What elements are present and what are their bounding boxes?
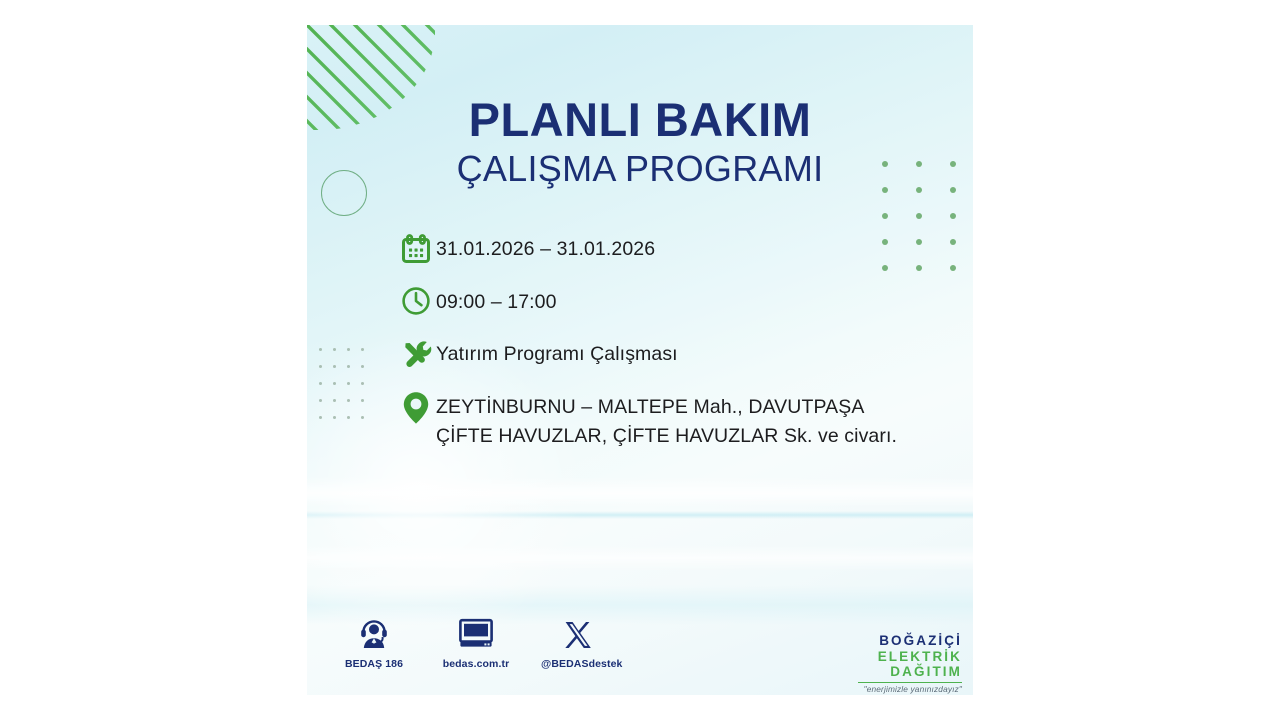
brand-line-3: DAĞITIM [852, 664, 962, 680]
support-headset-icon [337, 610, 411, 650]
brand-line-1: BOĞAZİÇİ [852, 633, 962, 649]
brand-tagline: "enerjimizle yanınızdayız" [852, 684, 962, 694]
monitor-icon [439, 610, 513, 650]
footer-contacts: BEDAŞ 186 bedas.com.tr [329, 610, 629, 670]
tools-icon [396, 337, 436, 373]
contact-call-center[interactable]: BEDAŞ 186 [337, 610, 411, 670]
detail-row-date: 31.01.2026 – 31.01.2026 [396, 232, 916, 268]
work-type-text: Yatırım Programı Çalışması [436, 337, 678, 368]
planned-maintenance-poster: PLANLI BAKIM ÇALIŞMA PROGRAMI [307, 25, 973, 695]
maintenance-details: 31.01.2026 – 31.01.2026 09:00 – 17:00 [396, 232, 916, 450]
clock-icon [396, 285, 436, 321]
x-twitter-icon [541, 610, 615, 650]
contact-label: BEDAŞ 186 [337, 658, 411, 670]
detail-row-time: 09:00 – 17:00 [396, 285, 916, 321]
brand-divider [858, 682, 962, 683]
location-pin-icon [396, 390, 436, 426]
bedas-logo: BOĞAZİÇİ ELEKTRİK DAĞITIM "enerjimizle y… [852, 633, 962, 694]
time-range-text: 09:00 – 17:00 [436, 285, 557, 316]
dot-grid-left-decoration [319, 348, 375, 433]
contact-website[interactable]: bedas.com.tr [439, 610, 513, 670]
page-title: PLANLI BAKIM [307, 95, 973, 144]
contact-label: bedas.com.tr [439, 658, 513, 670]
contact-x-account[interactable]: @BEDASdestek [541, 610, 615, 670]
title-block: PLANLI BAKIM ÇALIŞMA PROGRAMI [307, 95, 973, 189]
contact-label: @BEDASdestek [541, 658, 615, 670]
date-range-text: 31.01.2026 – 31.01.2026 [436, 232, 655, 263]
page-subtitle: ÇALIŞMA PROGRAMI [307, 149, 973, 189]
brand-line-2: ELEKTRİK [852, 649, 962, 665]
detail-row-work-type: Yatırım Programı Çalışması [396, 337, 916, 373]
calendar-icon [396, 232, 436, 268]
detail-row-location: ZEYTİNBURNU – MALTEPE Mah., DAVUTPAŞA Çİ… [396, 390, 916, 450]
location-text: ZEYTİNBURNU – MALTEPE Mah., DAVUTPAŞA Çİ… [436, 390, 916, 450]
screenshot-canvas: PLANLI BAKIM ÇALIŞMA PROGRAMI [0, 0, 1280, 720]
